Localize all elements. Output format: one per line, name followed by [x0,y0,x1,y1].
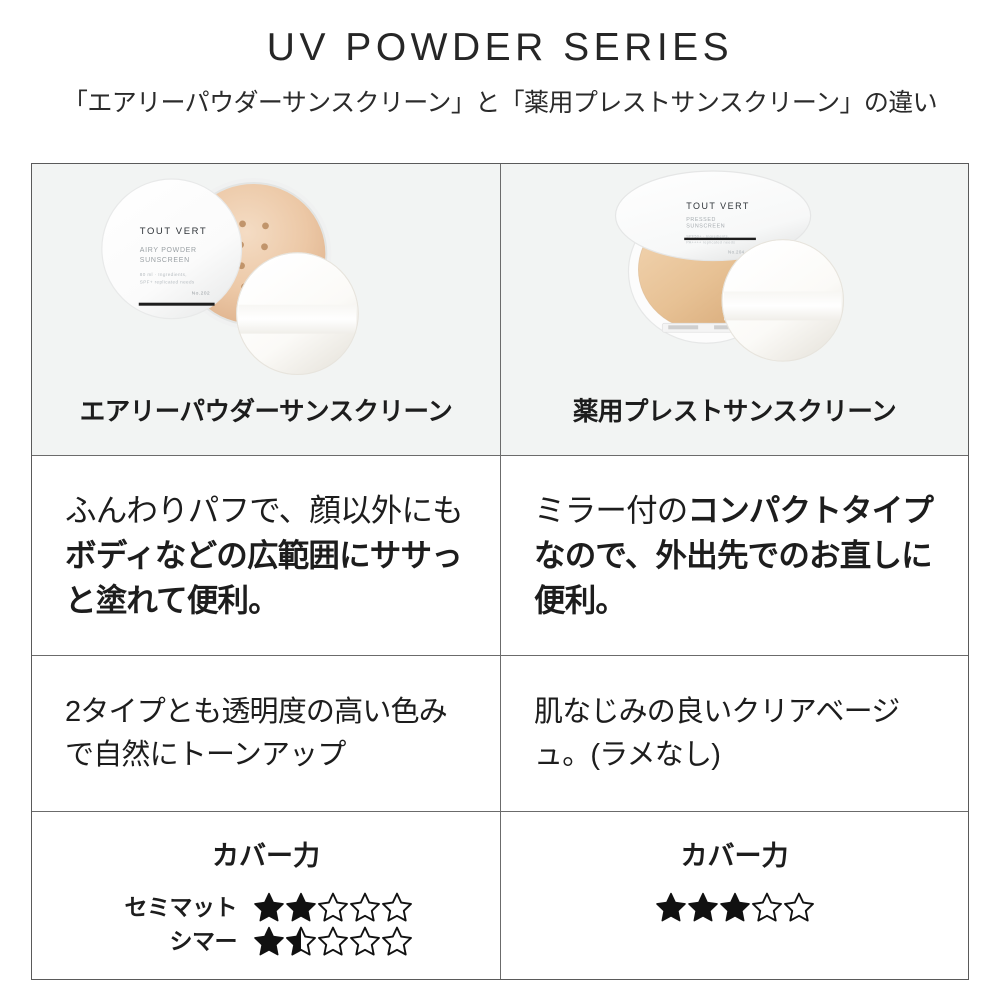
star-rating-semi-matte [253,891,413,923]
star-full [719,891,751,923]
product-name-medicated-pressed: 薬用プレストサンスクリーン [501,400,968,456]
feature-plain-pressed: ミラー付の [534,492,688,528]
star-empty [783,891,815,923]
star-full [253,925,285,957]
svg-text:PA++++ replicated needs: PA++++ replicated needs [686,241,735,245]
rating-label-shimmer: シマー [119,926,253,956]
page-subtitle: 「エアリーパウダーサンスクリーン」と「薬用プレストサンスクリーン」の違い [0,88,1000,118]
loose-powder-jar-with-puff-icon: TOUT VERT AIRY POWDER SUNSCREEN 80 ml · … [32,164,500,400]
star-full [655,891,687,923]
star-empty [317,891,349,923]
svg-text:SPF+ replicated needs: SPF+ replicated needs [140,280,195,285]
svg-text:80 ml · Ingredients,: 80 ml · Ingredients, [140,272,187,277]
coverage-title-airy-powder: カバー力 [212,834,320,873]
coverage-title-medicated-pressed: カバー力 [681,834,789,873]
coverage-cell-medicated-pressed: カバー力 [500,812,968,979]
feature-cell-medicated-pressed: ミラー付のコンパクトタイプなので、外出先でのお直しに便利。 [500,456,968,655]
star-empty [381,925,413,957]
star-half [285,925,317,957]
svg-text:No.204: No.204 [728,250,745,255]
svg-text:SUNSCREEN: SUNSCREEN [140,257,190,264]
rating-list-airy-powder: セミマット シマー [119,891,413,957]
star-empty [317,925,349,957]
svg-text:No.202: No.202 [192,291,210,297]
color-text-airy-powder: 2タイプとも透明度の高い色みで自然にトーンアップ [32,691,500,775]
table-row-features: ふんわりパフで、顔以外にもボディなどの広範囲にササっと塗れて便利。 ミラー付のコ… [32,455,968,655]
product-image-airy-powder: TOUT VERT AIRY POWDER SUNSCREEN 80 ml · … [32,164,500,400]
rating-label-semi-matte: セミマット [119,892,253,922]
feature-cell-airy-powder: ふんわりパフで、顔以外にもボディなどの広範囲にササっと塗れて便利。 [32,456,500,655]
star-full [687,891,719,923]
comparison-table: TOUT VERT AIRY POWDER SUNSCREEN 80 ml · … [31,163,969,980]
rating-row: シマー [119,925,413,957]
product-image-medicated-pressed: TOUT VERT PRESSED SUNSCREEN SPF50+ · Ing… [501,164,968,400]
product-cell-airy-powder: TOUT VERT AIRY POWDER SUNSCREEN 80 ml · … [32,164,500,455]
rating-row: セミマット [119,891,413,923]
star-empty [381,891,413,923]
table-row-color: 2タイプとも透明度の高い色みで自然にトーンアップ 肌なじみの良いクリアベージュ。… [32,655,968,811]
svg-text:AIRY POWDER: AIRY POWDER [140,247,197,254]
star-empty [751,891,783,923]
feature-plain-airy: ふんわりパフで、顔以外にも [65,492,463,528]
feature-text-airy-powder: ふんわりパフで、顔以外にもボディなどの広範囲にササっと塗れて便利。 [32,488,500,622]
page-title: UV POWDER SERIES [0,26,1000,70]
svg-text:TOUT VERT: TOUT VERT [140,226,208,237]
compact-powder-case-with-puff-icon: TOUT VERT PRESSED SUNSCREEN SPF50+ · Ing… [501,164,968,400]
color-cell-airy-powder: 2タイプとも透明度の高い色みで自然にトーンアップ [32,656,500,811]
star-rating-shimmer [253,925,413,957]
coverage-cell-airy-powder: カバー力 セミマット シマー [32,812,500,979]
feature-bold-airy: ボディなどの広範囲にササっと塗れて便利。 [65,537,462,618]
svg-text:PRESSED: PRESSED [686,217,716,223]
table-row-products: TOUT VERT AIRY POWDER SUNSCREEN 80 ml · … [32,164,968,455]
feature-text-medicated-pressed: ミラー付のコンパクトタイプなので、外出先でのお直しに便利。 [501,488,968,622]
product-cell-medicated-pressed: TOUT VERT PRESSED SUNSCREEN SPF50+ · Ing… [500,164,968,455]
star-empty [349,925,381,957]
star-empty [349,891,381,923]
star-rating-pressed [655,891,815,923]
table-row-coverage: カバー力 セミマット シマー カバー力 [32,811,968,979]
star-full [285,891,317,923]
product-name-airy-powder: エアリーパウダーサンスクリーン [32,400,500,456]
star-full [253,891,285,923]
page-header: UV POWDER SERIES 「エアリーパウダーサンスクリーン」と「薬用プレ… [0,0,1000,118]
svg-text:TOUT VERT: TOUT VERT [686,201,750,211]
rating-list-medicated-pressed [655,891,815,923]
color-cell-medicated-pressed: 肌なじみの良いクリアベージュ。(ラメなし) [500,656,968,811]
svg-text:SUNSCREEN: SUNSCREEN [686,224,725,230]
color-text-medicated-pressed: 肌なじみの良いクリアベージュ。(ラメなし) [501,691,968,775]
rating-row [655,891,815,923]
